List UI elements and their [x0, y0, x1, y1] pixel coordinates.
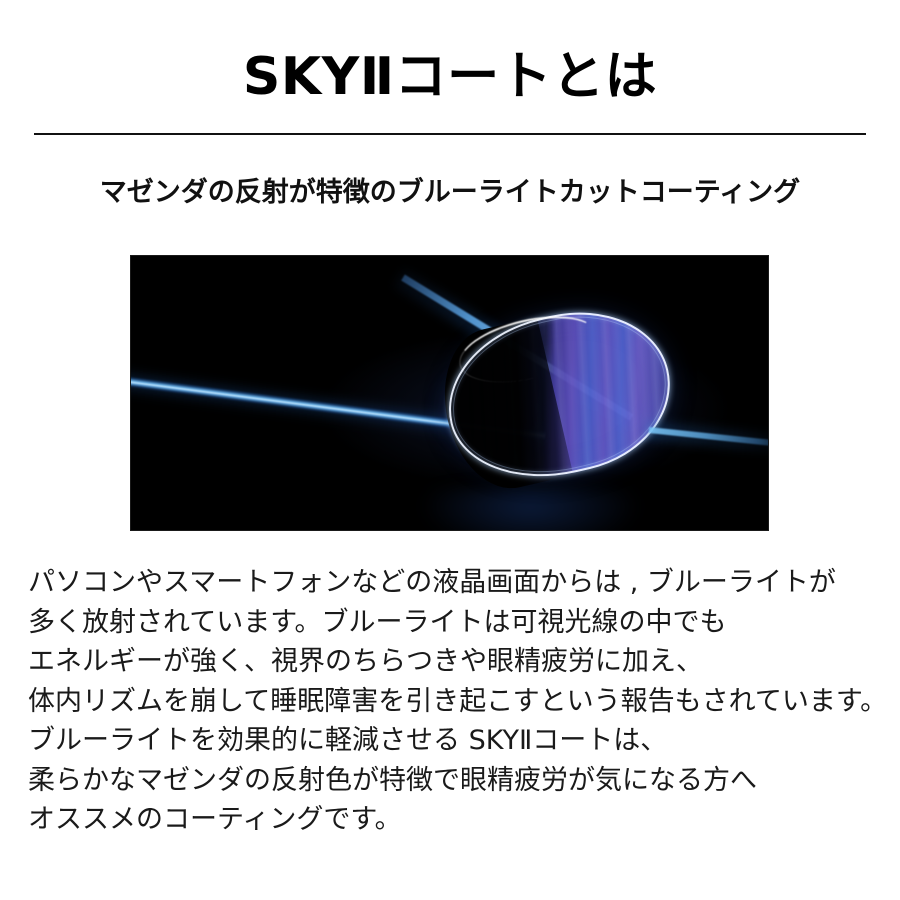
subtitle: マゼンダの反射が特徴のブルーライトカットコーティング [0, 176, 900, 210]
subtitle-block: マゼンダの反射が特徴のブルーライトカットコーティング [0, 176, 900, 210]
hero-image [130, 255, 769, 531]
page-title: SKYⅡコートとは [0, 46, 900, 108]
body-copy: パソコンやスマートフォンなどの液晶画面からは , ブルーライトが 多く放射されて… [28, 563, 888, 840]
eyeglass-lens [432, 293, 686, 497]
body-line: 体内リズムを崩して睡眠障害を引き起こすという報告もされています。 [28, 682, 888, 722]
body-line: 柔らかなマゼンダの反射色が特徴で眼精疲労が気になる方へ [28, 761, 888, 801]
body-line: オススメのコーティングです。 [28, 800, 888, 840]
body-line: エネルギーが強く、視界のちらつきや眼精疲労に加え、 [28, 642, 888, 682]
hero-image-stage [131, 256, 768, 530]
title-block: SKYⅡコートとは [0, 46, 900, 108]
body-line: パソコンやスマートフォンなどの液晶画面からは , ブルーライトが [28, 563, 888, 603]
ambient-glow-lower [423, 488, 638, 531]
body-line: 多く放射されています。ブルーライトは可視光線の中でも [28, 603, 888, 643]
product-info-page: SKYⅡコートとは マゼンダの反射が特徴のブルーライトカットコーティング [0, 0, 900, 900]
header-divider [34, 133, 866, 135]
body-line: ブルーライトを効果的に軽減させる SKYⅡコートは、 [28, 721, 888, 761]
